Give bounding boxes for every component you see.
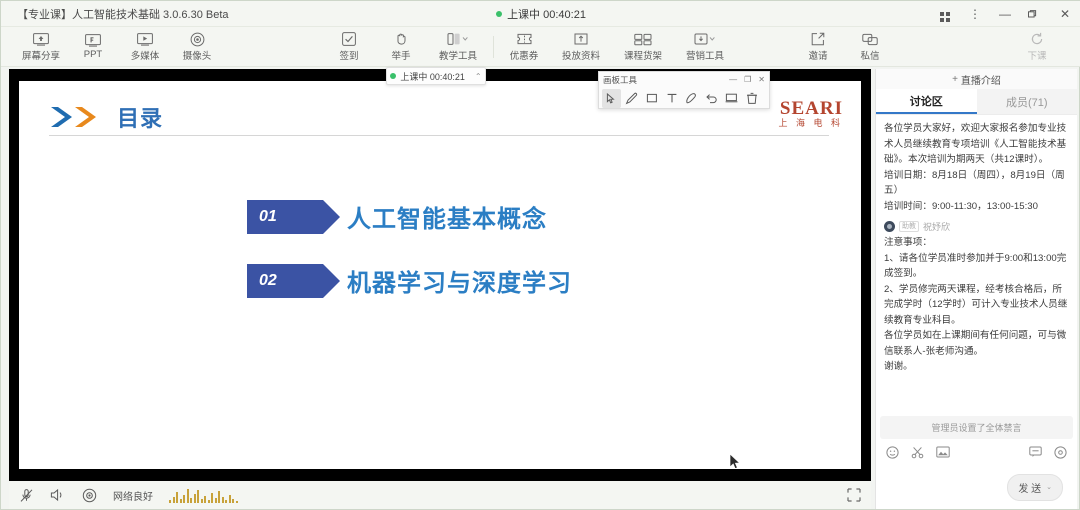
slide-title: 目录 bbox=[117, 101, 163, 133]
camera-status-icon[interactable] bbox=[82, 488, 97, 503]
toolbar-coupon-label: 优惠券 bbox=[510, 48, 539, 62]
floating-timer-text: 上课中 00:40:21 bbox=[400, 70, 465, 83]
chat-message-notes: 注意事项： 1、请各位学员准时参加并于9:00和13:00完成签到。 2、学员修… bbox=[884, 235, 1069, 375]
toolbar-camera[interactable]: 摄像头 bbox=[171, 27, 223, 67]
whiteboard-title: 画板工具 bbox=[603, 74, 637, 86]
toolbar-end-class-label: 下课 bbox=[1027, 48, 1046, 62]
whiteboard-close-icon[interactable]: ✕ bbox=[758, 75, 765, 84]
mouse-cursor-icon bbox=[729, 453, 741, 470]
slide-logo-line1: SEARI bbox=[778, 99, 843, 119]
window-controls: ⋮ — ✕ bbox=[937, 1, 1073, 27]
toolbar-multimedia-label: 多媒体 bbox=[131, 48, 160, 62]
slide-header: 目录 bbox=[49, 101, 163, 133]
toolbar-private-message-label: 私信 bbox=[860, 48, 879, 62]
toc-text-1: 人工智能基本概念 bbox=[347, 199, 547, 234]
maximize-icon[interactable] bbox=[1027, 9, 1043, 19]
toc-number-2: 02 bbox=[247, 264, 323, 298]
invite-icon bbox=[811, 32, 825, 47]
emoji-icon[interactable] bbox=[886, 446, 899, 459]
whiteboard-toolbar-window: 画板工具 — ❐ ✕ bbox=[598, 71, 770, 109]
live-intro-bar[interactable]: + 直播介绍 bbox=[876, 69, 1077, 89]
camera-icon bbox=[190, 32, 205, 47]
toolbar-end-class[interactable]: 下课 bbox=[1011, 27, 1063, 67]
toolbar-push-material-label: 投放资料 bbox=[562, 48, 600, 62]
slide-header-rule bbox=[49, 135, 829, 136]
floating-class-timer[interactable]: 上课中 00:40:21 ⌃ bbox=[386, 67, 486, 85]
toolbar-push-material[interactable]: 投放资料 bbox=[550, 27, 612, 67]
toolbar-teaching-tools[interactable]: 教学工具 bbox=[427, 27, 489, 67]
toolbar-teaching-tools-label: 教学工具 bbox=[439, 48, 477, 62]
toc-text-2: 机器学习与深度学习 bbox=[347, 263, 572, 298]
chat-message-announcement: 各位学员大家好，欢迎大家报名参加专业技术人员继续教育专项培训《人工智能技术基础》… bbox=[884, 121, 1069, 214]
send-row: 发 送 ⌄ bbox=[876, 465, 1077, 509]
media-icon bbox=[137, 32, 153, 47]
chevron-decoration-icon bbox=[49, 104, 107, 130]
toolbar-screen-share[interactable]: 屏幕分享 bbox=[15, 27, 67, 67]
floating-status-dot-icon bbox=[390, 73, 396, 79]
speaker-icon[interactable] bbox=[50, 488, 66, 502]
chat-message-list[interactable]: 各位学员大家好，欢迎大家报名参加专业技术人员继续教育专项培训《人工智能技术基础》… bbox=[876, 115, 1077, 410]
course-shelf-icon bbox=[634, 32, 652, 47]
toolbar-raise-hand-label: 举手 bbox=[391, 48, 410, 62]
page-tool-icon[interactable] bbox=[722, 89, 741, 108]
toolbar-camera-label: 摄像头 bbox=[183, 48, 212, 62]
close-icon[interactable]: ✕ bbox=[1057, 8, 1073, 20]
toolbar-right-group: 邀请 私信 bbox=[792, 27, 896, 67]
toolbar-center-group: 签到 举手 教学工具 优惠券 bbox=[323, 27, 736, 67]
toolbar-raise-hand[interactable]: 举手 bbox=[375, 27, 427, 67]
push-material-icon bbox=[574, 32, 588, 47]
pen-tool-icon[interactable] bbox=[622, 89, 641, 108]
undo-tool-icon[interactable] bbox=[702, 89, 721, 108]
chat-tool-row bbox=[876, 439, 1077, 465]
check-in-icon bbox=[342, 32, 356, 47]
toc-item-2: 02 机器学习与深度学习 bbox=[247, 263, 572, 298]
scissors-icon[interactable] bbox=[911, 446, 924, 459]
slide-logo-line2: 上 海 电 科 bbox=[778, 119, 843, 128]
toolbar-marketing-tools[interactable]: 营销工具 bbox=[674, 27, 736, 67]
delete-tool-icon[interactable] bbox=[742, 89, 761, 108]
toolbar-multimedia[interactable]: 多媒体 bbox=[119, 27, 171, 67]
main-toolbar: 屏幕分享 PPT 多媒体 摄像头 bbox=[1, 27, 1080, 67]
minimize-icon[interactable]: — bbox=[997, 8, 1013, 20]
chat-tool-right-group bbox=[1029, 446, 1067, 459]
toolbar-ppt[interactable]: PPT bbox=[67, 27, 119, 67]
end-class-icon bbox=[1030, 32, 1044, 47]
toolbar-left-group: 屏幕分享 PPT 多媒体 摄像头 bbox=[15, 27, 223, 67]
whiteboard-minimize-icon[interactable]: — bbox=[729, 75, 737, 84]
toolbar-end-class-group: 下课 bbox=[1011, 27, 1063, 67]
toolbar-invite-label: 邀请 bbox=[808, 48, 827, 62]
marketing-tools-icon bbox=[694, 32, 716, 47]
whiteboard-titlebar: 画板工具 — ❐ ✕ bbox=[599, 72, 769, 87]
raise-hand-icon bbox=[394, 32, 408, 47]
toolbar-screen-share-label: 屏幕分享 bbox=[22, 48, 60, 62]
sender-name: 祝妤欣 bbox=[923, 220, 950, 233]
title-bar: 【专业课】人工智能技术基础 3.0.6.30 Beta 上课中 00:40:21… bbox=[1, 1, 1080, 27]
class-status-indicator: 上课中 00:40:21 bbox=[441, 6, 641, 22]
mic-muted-icon[interactable] bbox=[19, 488, 34, 503]
quick-reply-icon[interactable] bbox=[1029, 446, 1042, 459]
avatar bbox=[884, 221, 895, 232]
slide-canvas[interactable]: 目录 SEARI 上 海 电 科 01 人工智能基本概念 02 机器学习与深度学… bbox=[19, 81, 861, 469]
cursor-tool-icon[interactable] bbox=[602, 89, 621, 108]
toc-item-1: 01 人工智能基本概念 bbox=[247, 199, 547, 234]
fullscreen-icon[interactable] bbox=[847, 488, 861, 502]
coupon-icon bbox=[517, 32, 532, 47]
mute-notice: 管理员设置了全体禁言 bbox=[880, 416, 1073, 439]
private-message-icon bbox=[862, 32, 878, 47]
network-status-text: 网络良好 bbox=[113, 488, 153, 503]
send-button-label: 发 送 bbox=[1018, 480, 1041, 495]
chevron-up-icon[interactable]: ⌃ bbox=[475, 72, 482, 81]
grid-view-icon[interactable] bbox=[937, 6, 953, 22]
toolbar-invite[interactable]: 邀请 bbox=[792, 27, 844, 67]
settings-icon[interactable] bbox=[1054, 446, 1067, 459]
send-dropdown-icon[interactable]: ⌄ bbox=[1046, 483, 1052, 491]
window-title: 【专业课】人工智能技术基础 3.0.6.30 Beta bbox=[17, 6, 229, 22]
teaching-tools-icon bbox=[447, 32, 469, 47]
tab-members[interactable]: 成员(71) bbox=[977, 89, 1078, 114]
toolbar-divider bbox=[493, 36, 494, 58]
ppt-icon bbox=[85, 33, 101, 48]
eraser-tool-icon[interactable] bbox=[682, 89, 701, 108]
whiteboard-maximize-icon[interactable]: ❐ bbox=[744, 75, 751, 84]
toolbar-check-in[interactable]: 签到 bbox=[323, 27, 375, 67]
live-class-app-window: 【专业课】人工智能技术基础 3.0.6.30 Beta 上课中 00:40:21… bbox=[0, 0, 1080, 510]
more-options-icon[interactable]: ⋮ bbox=[967, 8, 983, 20]
text-tool-icon[interactable] bbox=[662, 89, 681, 108]
class-status-text: 上课中 00:40:21 bbox=[507, 6, 586, 22]
toolbar-check-in-label: 签到 bbox=[339, 48, 358, 62]
toolbar-marketing-tools-label: 营销工具 bbox=[686, 48, 724, 62]
role-badge: 助教 bbox=[899, 221, 919, 232]
presentation-stage: 目录 SEARI 上 海 电 科 01 人工智能基本概念 02 机器学习与深度学… bbox=[9, 69, 871, 481]
slide-logo: SEARI 上 海 电 科 bbox=[778, 99, 843, 128]
audio-waveform bbox=[169, 487, 238, 503]
screen-share-icon bbox=[33, 32, 49, 47]
plus-icon: + bbox=[952, 74, 958, 85]
send-button[interactable]: 发 送 ⌄ bbox=[1007, 474, 1063, 501]
bottom-status-bar: 网络良好 bbox=[9, 481, 871, 509]
toolbar-course-shelf-label: 课程货架 bbox=[624, 48, 662, 62]
chat-message-sender: 助教 祝妤欣 bbox=[884, 220, 1069, 233]
rectangle-tool-icon[interactable] bbox=[642, 89, 661, 108]
live-intro-label: 直播介绍 bbox=[961, 72, 1001, 87]
toc-number-1: 01 bbox=[247, 200, 323, 234]
toolbar-ppt-label: PPT bbox=[84, 49, 102, 60]
toolbar-course-shelf[interactable]: 课程货架 bbox=[612, 27, 674, 67]
image-icon[interactable] bbox=[936, 446, 950, 458]
whiteboard-tool-row bbox=[599, 87, 769, 109]
whiteboard-window-controls: — ❐ ✕ bbox=[729, 75, 765, 84]
status-dot-icon bbox=[496, 11, 502, 17]
tab-discussion[interactable]: 讨论区 bbox=[876, 89, 977, 114]
panel-tabs: 讨论区 成员(71) bbox=[876, 89, 1077, 115]
toolbar-private-message[interactable]: 私信 bbox=[844, 27, 896, 67]
toolbar-coupon[interactable]: 优惠券 bbox=[498, 27, 550, 67]
right-side-panel: + 直播介绍 讨论区 成员(71) 各位学员大家好，欢迎大家报名参加专业技术人员… bbox=[875, 69, 1077, 509]
